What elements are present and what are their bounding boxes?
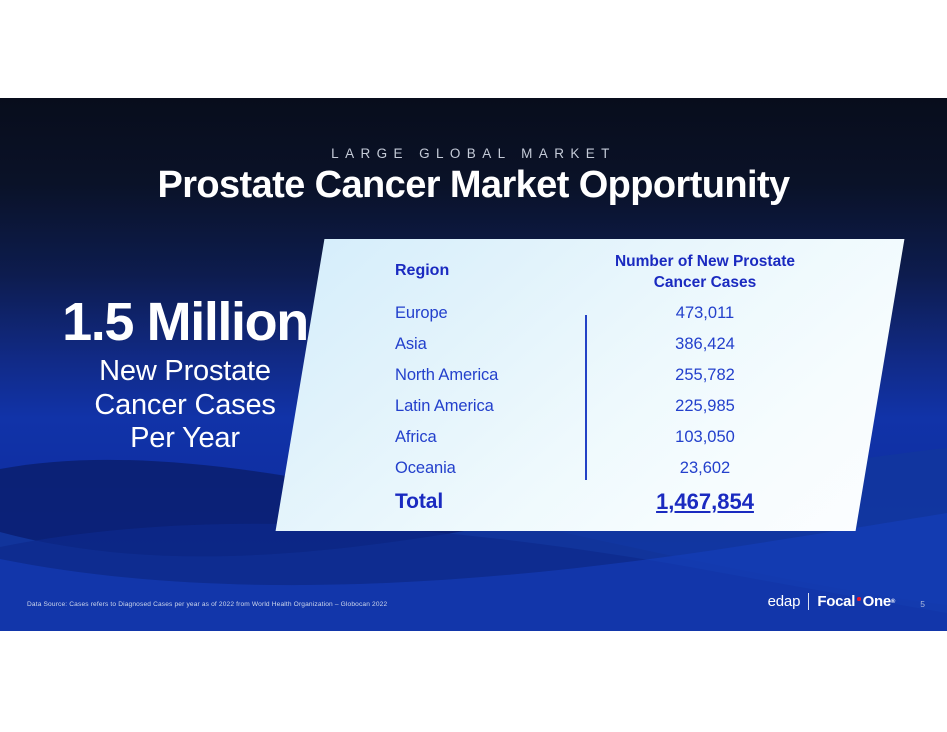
page-title: Prostate Cancer Market Opportunity [0,164,947,207]
headline-block: 1.5 Million New Prostate Cancer Cases Pe… [40,295,330,456]
row-region-label: Asia [395,335,427,354]
row-cases-value: 225,985 [550,397,860,416]
row-cases-value: 386,424 [550,335,860,354]
table-row: Africa 103,050 [300,425,880,456]
table-row: Oceania 23,602 [300,456,880,487]
headline-figure: 1.5 Million [40,295,330,349]
column-header-cases-line1: Number of New Prostate [550,251,860,272]
headline-subtext-line2: Cancer Cases [40,389,330,423]
edap-wordmark: edap [768,593,801,610]
row-cases-value: 103,050 [550,428,860,447]
row-cases-value: 23,602 [550,459,860,478]
table-row: Asia 386,424 [300,332,880,363]
column-header-cases: Number of New Prostate Cancer Cases [550,251,860,293]
screenshot-root: LARGE GLOBAL MARKET Prostate Cancer Mark… [0,0,947,732]
logo-divider [808,593,809,610]
total-value: 1,467,854 [550,489,860,515]
row-region-label: Latin America [395,397,494,416]
column-header-region: Region [395,262,449,280]
column-header-cases-line2: Cancer Cases [550,272,860,293]
headline-subtext-line1: New Prostate [40,355,330,389]
row-region-label: Africa [395,428,437,447]
row-region-label: North America [395,366,498,385]
table-row: Europe 473,011 [300,301,880,332]
slide-page-number: 5 [920,599,925,609]
headline-subtext-line3: Per Year [40,422,330,456]
data-card: Region Number of New Prostate Cancer Cas… [300,239,880,531]
focal-one-wordmark: Focal One ® [817,593,895,610]
one-text: One [863,593,891,610]
presentation-slide: LARGE GLOBAL MARKET Prostate Cancer Mark… [0,98,947,631]
table-row: Latin America 225,985 [300,394,880,425]
table-row: North America 255,782 [300,363,880,394]
row-cases-value: 255,782 [550,366,860,385]
regions-table: Region Number of New Prostate Cancer Cas… [300,239,880,527]
total-label: Total [395,490,443,514]
table-total-row: Total 1,467,854 [300,487,880,527]
table-header-row: Region Number of New Prostate Cancer Cas… [300,239,880,301]
row-region-label: Europe [395,304,448,323]
data-source-footnote: Data Source: Cases refers to Diagnosed C… [27,601,387,608]
focal-text: Focal [817,593,855,610]
row-cases-value: 473,011 [550,304,860,323]
headline-subtext: New Prostate Cancer Cases Per Year [40,355,330,456]
data-card-content: Region Number of New Prostate Cancer Cas… [300,239,880,531]
logo-dot-icon [857,597,861,601]
row-region-label: Oceania [395,459,456,478]
brand-logo: edap Focal One ® [768,593,895,610]
registered-mark-icon: ® [891,599,895,605]
slide-eyebrow: LARGE GLOBAL MARKET [0,146,947,161]
